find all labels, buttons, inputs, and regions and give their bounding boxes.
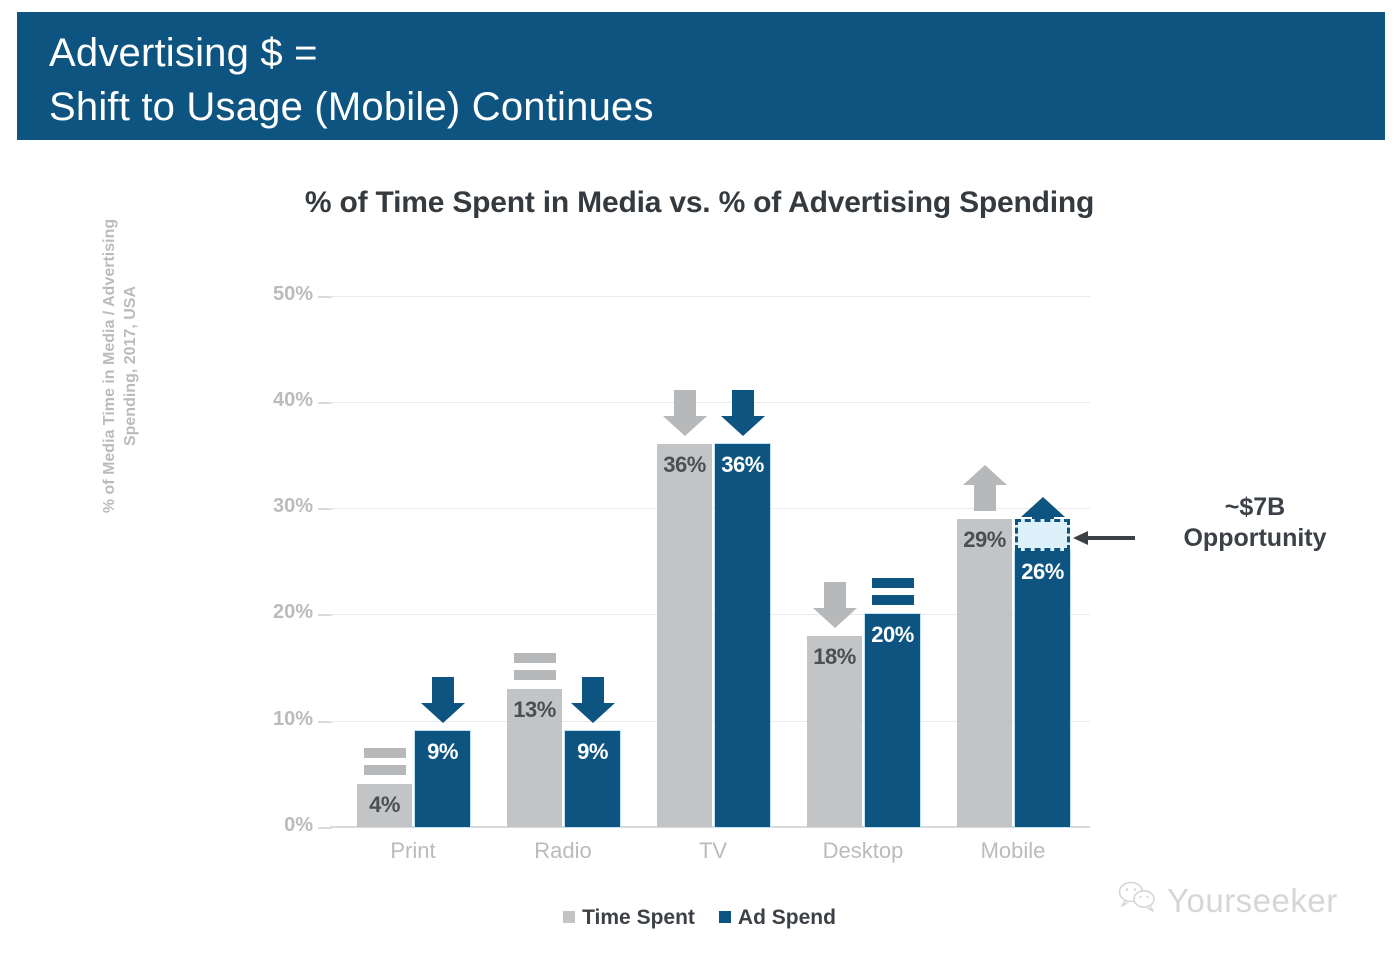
bar-tv-ad-spend[interactable] bbox=[715, 444, 770, 827]
legend-swatch bbox=[563, 911, 575, 923]
x-axis-label-radio: Radio bbox=[503, 838, 623, 864]
legend-item-time-spent[interactable]: Time Spent bbox=[563, 906, 695, 930]
chart-plot-area: % of Media Time in Media / Advertising S… bbox=[0, 0, 1399, 960]
y-tick-label: 0% bbox=[255, 814, 313, 837]
x-axis-label-tv: TV bbox=[653, 838, 773, 864]
bar-value-label: 18% bbox=[807, 644, 862, 670]
opportunity-amount: ~$7B bbox=[1140, 492, 1370, 523]
y-tick-label: 40% bbox=[255, 389, 313, 412]
bar-value-label: 26% bbox=[1015, 559, 1070, 585]
equals-icon bbox=[870, 578, 916, 606]
bar-group-mobile: 29%26%Mobile bbox=[957, 0, 1077, 960]
opportunity-word: Opportunity bbox=[1140, 523, 1370, 554]
opportunity-box bbox=[1015, 519, 1070, 551]
legend-label: Ad Spend bbox=[738, 906, 836, 929]
bar-value-label: 9% bbox=[415, 739, 470, 765]
x-axis-label-mobile: Mobile bbox=[953, 838, 1073, 864]
equals-icon bbox=[362, 748, 408, 776]
bar-value-label: 20% bbox=[865, 622, 920, 648]
wechat-icon bbox=[1118, 880, 1167, 922]
down-arrow-icon bbox=[420, 675, 466, 725]
bar-value-label: 36% bbox=[715, 452, 770, 478]
down-arrow-icon bbox=[570, 675, 616, 725]
up-arrow-icon bbox=[962, 463, 1008, 513]
y-axis-title: % of Media Time in Media / Advertising S… bbox=[99, 186, 141, 546]
bar-value-label: 13% bbox=[507, 697, 562, 723]
y-tick-label: 30% bbox=[255, 495, 313, 518]
legend-item-ad-spend[interactable]: Ad Spend bbox=[719, 906, 836, 930]
down-arrow-icon bbox=[720, 388, 766, 438]
bar-group-tv: 36%36%TV bbox=[657, 0, 777, 960]
y-tick-label: 20% bbox=[255, 601, 313, 624]
bar-group-print: 4%9%Print bbox=[357, 0, 477, 960]
bar-mobile-time-spent[interactable] bbox=[957, 519, 1012, 827]
watermark-text: Yourseeker bbox=[1167, 882, 1338, 920]
bar-value-label: 36% bbox=[657, 452, 712, 478]
y-tick-label: 50% bbox=[255, 283, 313, 306]
bar-mobile-ad-spend[interactable] bbox=[1015, 551, 1070, 827]
x-axis-label-print: Print bbox=[353, 838, 473, 864]
legend-label: Time Spent bbox=[582, 906, 695, 929]
bar-group-desktop: 18%20%Desktop bbox=[807, 0, 927, 960]
opportunity-callout-label: ~$7B Opportunity bbox=[1140, 492, 1370, 554]
down-arrow-icon bbox=[662, 388, 708, 438]
bar-value-label: 29% bbox=[957, 527, 1012, 553]
equals-icon bbox=[512, 653, 558, 681]
opportunity-callout-arrow-icon bbox=[1073, 531, 1135, 545]
x-axis-label-desktop: Desktop bbox=[803, 838, 923, 864]
bar-group-radio: 13%9%Radio bbox=[507, 0, 627, 960]
bar-value-label: 9% bbox=[565, 739, 620, 765]
bar-value-label: 4% bbox=[357, 792, 412, 818]
legend-swatch bbox=[719, 911, 731, 923]
bar-tv-time-spent[interactable] bbox=[657, 444, 712, 827]
y-tick-label: 10% bbox=[255, 708, 313, 731]
down-arrow-icon bbox=[812, 580, 858, 630]
watermark: Yourseeker bbox=[1118, 880, 1338, 922]
